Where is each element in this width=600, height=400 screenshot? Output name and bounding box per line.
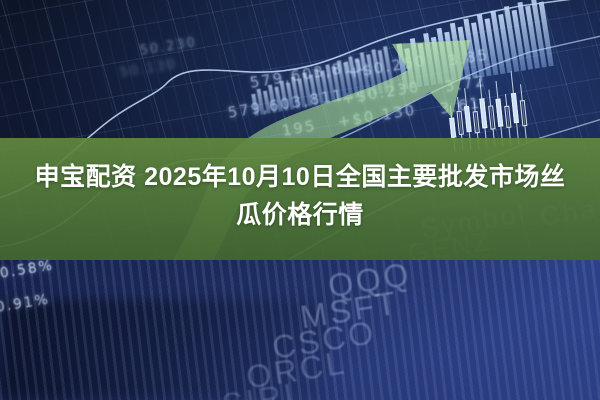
banner-image: 50.230 50.130 579,603,811 +$0.250 3.85 5…: [0, 0, 600, 400]
title-line-1: 申宝配资 2025年10月10日全国主要批发市场丝: [35, 163, 566, 191]
page-title: 申宝配资 2025年10月10日全国主要批发市场丝 瓜价格行情: [0, 158, 600, 234]
title-line-2: 瓜价格行情: [236, 201, 364, 229]
